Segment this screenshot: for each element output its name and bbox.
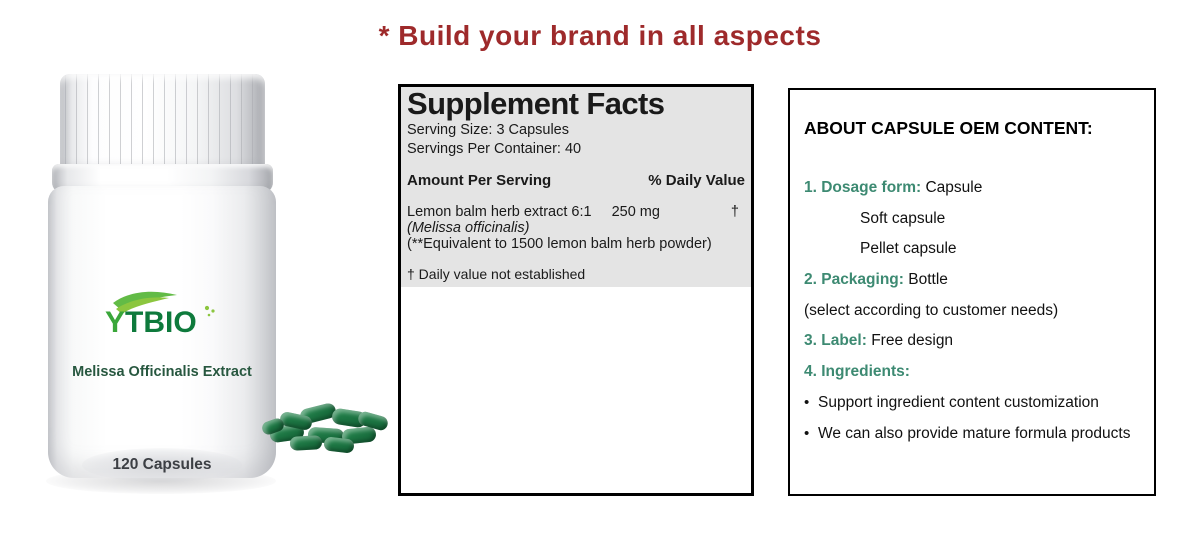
servings-per-container: Servings Per Container: 40 xyxy=(407,140,745,159)
ingredient-row: Lemon balm herb extract 6:1 250 mg † (Me… xyxy=(407,202,745,253)
capsule xyxy=(323,436,354,454)
amount-per-serving-label: Amount Per Serving xyxy=(407,172,551,189)
oem-item-key: 4. Ingredients: xyxy=(804,363,910,380)
oem-item-ingredients: 4. Ingredients: xyxy=(804,357,1144,388)
svg-text:Y: Y xyxy=(105,306,125,336)
ytbio-logo-mark: Y TBIO xyxy=(103,290,221,336)
oem-item-packaging: 2. Packaging: Bottle xyxy=(804,265,1144,296)
ytbio-logo: Y TBIO xyxy=(48,290,276,340)
bottle-body: Y TBIO Melissa Officinalis Extract 120 C… xyxy=(48,186,276,478)
bottle-cap xyxy=(60,74,265,172)
svg-text:TBIO: TBIO xyxy=(125,306,197,336)
oem-item-value: Capsule xyxy=(925,179,982,196)
divider-thick xyxy=(407,194,745,202)
ingredient-amount: 250 mg xyxy=(612,204,660,220)
oem-item-key: 2. Packaging: xyxy=(804,271,904,288)
serving-size: Serving Size: 3 Capsules xyxy=(407,121,745,140)
oem-item-soft-capsule: Soft capsule xyxy=(804,204,1144,235)
oem-item-key: 3. Label: xyxy=(804,332,867,349)
daily-value-label: % Daily Value xyxy=(648,172,745,189)
ingredient-equivalent: (**Equivalent to 1500 lemon balm herb po… xyxy=(407,236,745,252)
supplement-facts-panel: Supplement Facts Serving Size: 3 Capsule… xyxy=(398,84,754,496)
oem-item-value: Free design xyxy=(871,332,953,349)
oem-item-key: 1. Dosage form: xyxy=(804,179,921,196)
oem-item-dosage-form: 1. Dosage form: Capsule xyxy=(804,173,1144,204)
oem-panel-title: ABOUT CAPSULE OEM CONTENT: xyxy=(804,118,1144,139)
oem-bullet-customization: Support ingredient content customization xyxy=(804,388,1144,419)
bottle-product-name: Melissa Officinalis Extract xyxy=(48,364,276,380)
supplement-facts-title: Supplement Facts xyxy=(407,87,745,121)
oem-item-value: Bottle xyxy=(908,271,948,288)
supplement-facts-block: Supplement Facts Serving Size: 3 Capsule… xyxy=(401,87,751,287)
amount-per-serving-row: Amount Per Serving % Daily Value xyxy=(407,170,745,191)
oem-content-panel: ABOUT CAPSULE OEM CONTENT: 1. Dosage for… xyxy=(788,88,1156,496)
capsule xyxy=(290,435,323,451)
oem-item-label: 3. Label: Free design xyxy=(804,326,1144,357)
supplement-facts-footnote: † Daily value not established xyxy=(407,264,745,284)
oem-item-pellet-capsule: Pellet capsule xyxy=(804,234,1144,265)
page-headline: * Build your brand in all aspects xyxy=(0,20,1200,52)
divider-thick xyxy=(407,162,745,170)
oem-item-value: (select according to customer needs) xyxy=(804,302,1058,319)
ingredient-latin-name: (Melissa officinalis) xyxy=(407,220,745,236)
product-bottle-image: Y TBIO Melissa Officinalis Extract 120 C… xyxy=(38,70,288,490)
capsule-pile-image xyxy=(262,396,392,460)
ingredient-name: Lemon balm herb extract 6:1 xyxy=(407,204,592,220)
ingredient-main-line: Lemon balm herb extract 6:1 250 mg † xyxy=(407,204,745,220)
oem-item-value: Pellet capsule xyxy=(860,240,957,257)
divider-thick xyxy=(407,256,745,264)
ingredient-daily-value: † xyxy=(731,204,745,220)
oem-item-packaging-note: (select according to customer needs) xyxy=(804,296,1144,327)
oem-item-value: Soft capsule xyxy=(860,210,945,227)
oem-bullet-mature-formula: We can also provide mature formula produ… xyxy=(804,419,1144,450)
bottle-capsule-count: 120 Capsules xyxy=(48,456,276,474)
